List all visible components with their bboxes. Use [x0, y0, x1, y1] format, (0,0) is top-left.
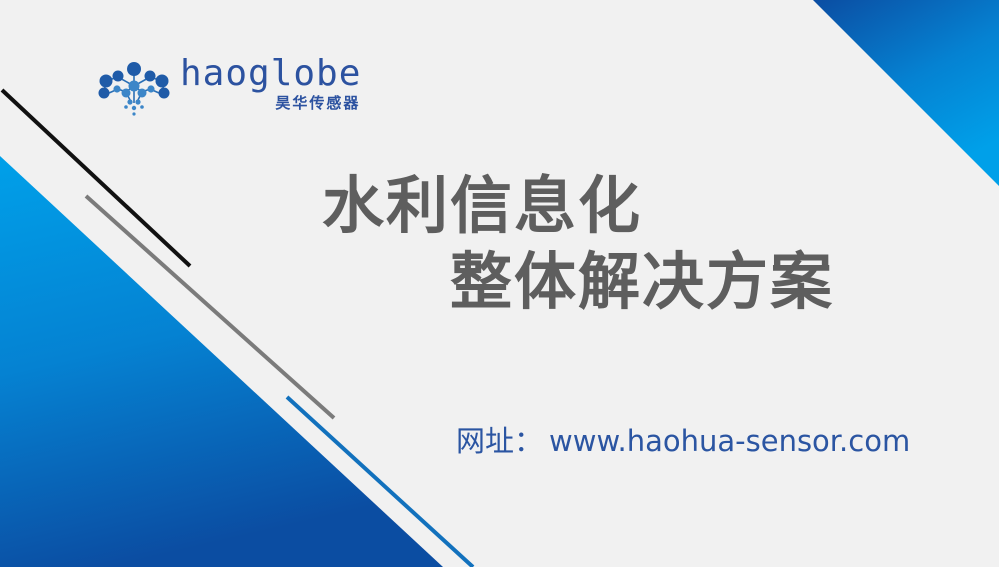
page-title: 水利信息化 整体解决方案	[0, 168, 999, 320]
network-cluster-icon	[96, 59, 172, 119]
website-url[interactable]: www.haohua-sensor.com	[549, 424, 910, 458]
title-line-2: 整体解决方案	[450, 244, 999, 320]
logo-wordmark: haoglobe	[180, 55, 361, 93]
blue-diagonal-line	[287, 397, 473, 567]
title-line-1: 水利信息化	[322, 168, 999, 244]
website-label: 网址：	[456, 418, 543, 460]
title-slide: haoglobe 昊华传感器 水利信息化 整体解决方案 网址： www.haoh…	[0, 0, 999, 567]
logo-text: haoglobe 昊华传感器	[180, 55, 361, 112]
top-right-blue-triangle	[813, 0, 999, 186]
logo-subtitle: 昊华传感器	[275, 94, 360, 112]
company-logo: haoglobe 昊华传感器	[96, 55, 361, 119]
website-line: 网址： www.haohua-sensor.com	[456, 418, 910, 460]
